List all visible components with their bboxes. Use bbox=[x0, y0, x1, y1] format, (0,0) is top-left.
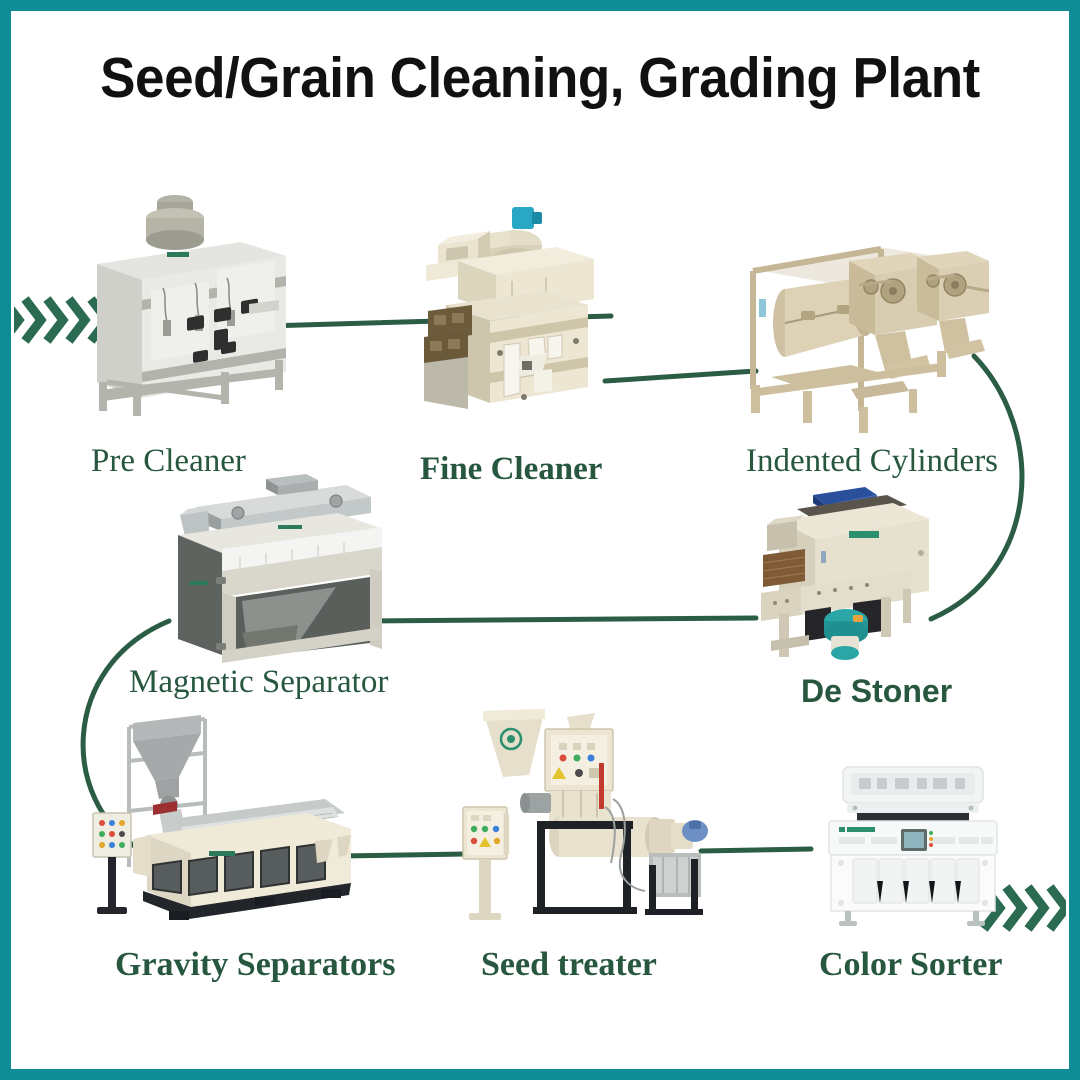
label-seed-treater: Seed treater bbox=[481, 946, 657, 984]
infographic-page: Seed/Grain Cleaning, Grading Plant bbox=[0, 0, 1080, 1080]
machine-color-sorter bbox=[821, 763, 1006, 928]
label-de-stoner: De Stoner bbox=[801, 673, 952, 710]
machine-indented-cylinders bbox=[741, 239, 991, 434]
label-gravity-separators: Gravity Separators bbox=[115, 946, 395, 984]
machine-gravity-separators bbox=[93, 701, 358, 926]
machine-seed-treater bbox=[463, 703, 713, 923]
label-fine-cleaner: Fine Cleaner bbox=[420, 451, 602, 488]
machine-magnetic-separator bbox=[166, 473, 391, 668]
chevron-right-icon bbox=[1050, 887, 1066, 929]
label-indented-cylinders: Indented Cylinders bbox=[746, 443, 998, 480]
label-magnetic-separator: Magnetic Separator bbox=[129, 664, 388, 701]
machine-fine-cleaner bbox=[416, 201, 621, 431]
chevron-right-icon bbox=[1028, 887, 1044, 929]
label-color-sorter: Color Sorter bbox=[819, 946, 1002, 984]
machine-de-stoner bbox=[761, 481, 961, 676]
machine-pre-cleaner bbox=[71, 176, 301, 411]
chevron-right-icon bbox=[1006, 887, 1022, 929]
